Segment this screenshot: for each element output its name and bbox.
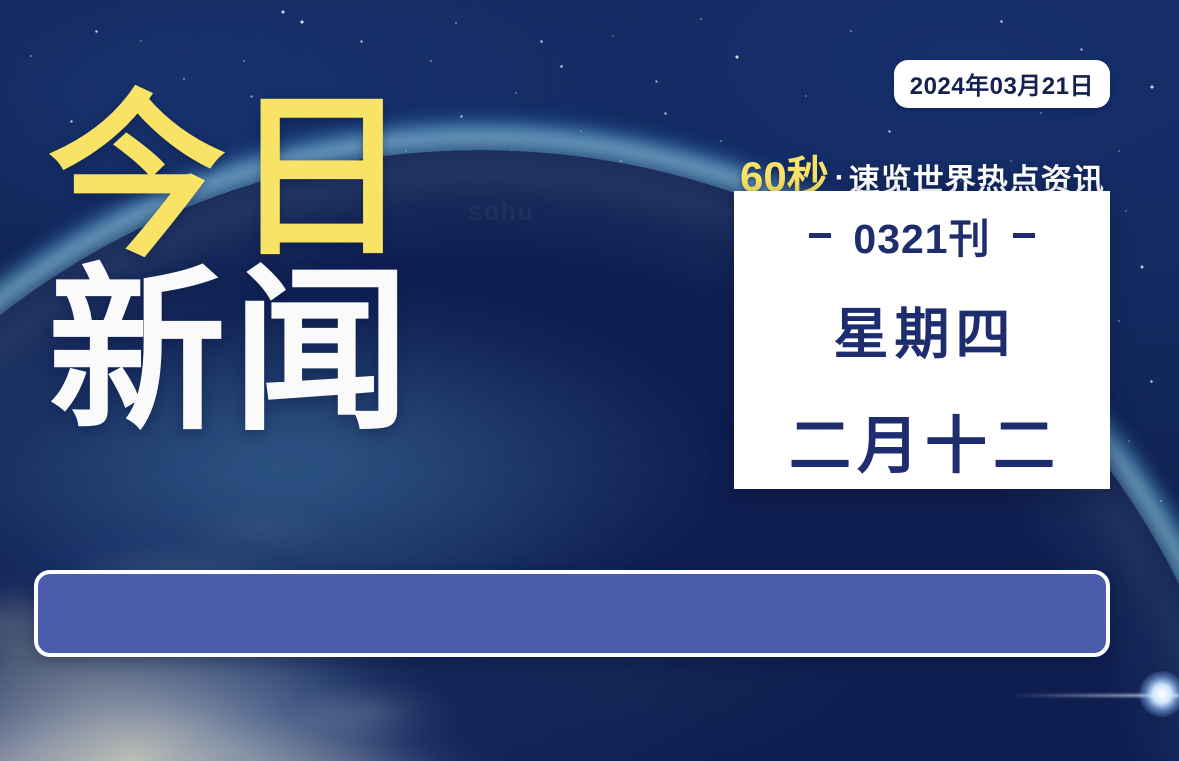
issue-dash-right-icon bbox=[1013, 233, 1035, 238]
watermark-text: sohu bbox=[468, 196, 534, 227]
masthead-line-news: 新闻 bbox=[48, 270, 416, 434]
tagline-separator: · bbox=[835, 161, 845, 194]
info-card: 0321刊 星期四 二月十二 bbox=[734, 191, 1110, 489]
masthead-title: 今日 新闻 bbox=[48, 96, 416, 434]
date-badge: 2024年03月21日 bbox=[894, 60, 1110, 108]
news-poster: sohu 今日 新闻 2024年03月21日 60秒·速览世界热点资讯 0321… bbox=[0, 0, 1179, 761]
lens-flare-star-icon bbox=[1139, 671, 1179, 717]
bottom-banner-bar bbox=[34, 570, 1110, 657]
issue-dash-left-icon bbox=[809, 233, 831, 238]
issue-number: 0321刊 bbox=[853, 205, 990, 265]
weekday-label: 星期四 bbox=[827, 289, 1016, 369]
masthead-line-today: 今日 bbox=[48, 96, 416, 260]
lunar-date-label: 二月十二 bbox=[783, 395, 1061, 485]
issue-row: 0321刊 bbox=[809, 205, 1034, 265]
